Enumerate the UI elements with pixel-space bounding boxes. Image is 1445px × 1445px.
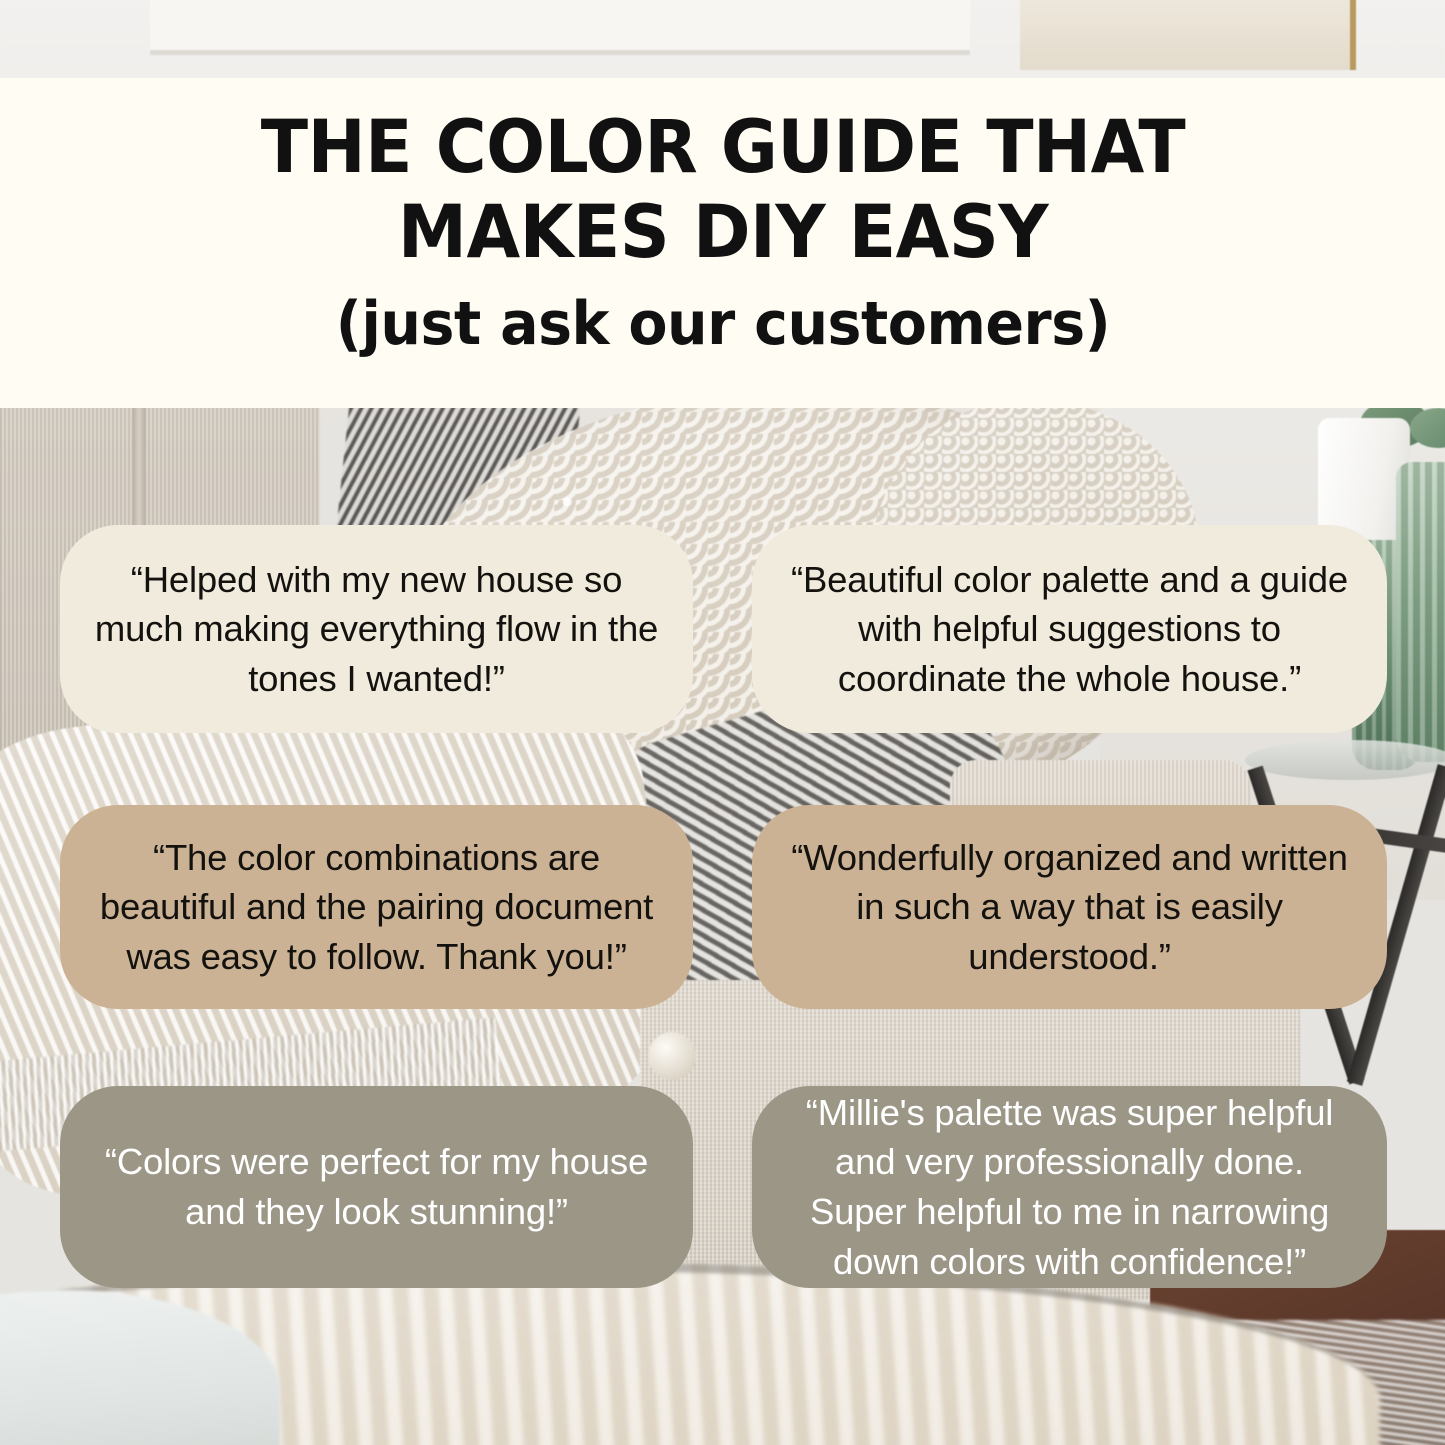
testimonial-card-3[interactable]: “The color combinations are beautiful an… <box>60 805 693 1009</box>
testimonial-card-6[interactable]: “Millie's palette was super helpful and … <box>752 1086 1387 1288</box>
testimonial-quote: “Colors were perfect for my house and th… <box>94 1137 659 1236</box>
wall-frame-edge <box>1020 0 1356 70</box>
testimonial-quote: “Wonderfully organized and written in su… <box>786 833 1353 982</box>
testimonial-poster: THE COLOR GUIDE THAT MAKES DIY EASY (jus… <box>0 0 1445 1445</box>
testimonial-quote: “Helped with my new house so much making… <box>94 555 659 704</box>
testimonial-card-4[interactable]: “Wonderfully organized and written in su… <box>752 805 1387 1009</box>
testimonial-card-1[interactable]: “Helped with my new house so much making… <box>60 525 693 733</box>
page-subtitle: (just ask our customers) <box>129 291 1317 357</box>
testimonial-quote: “The color combinations are beautiful an… <box>94 833 659 982</box>
testimonial-quote: “Millie's palette was super helpful and … <box>786 1088 1353 1287</box>
wall-art-panel <box>150 0 970 55</box>
header-band: THE COLOR GUIDE THAT MAKES DIY EASY (jus… <box>0 78 1445 408</box>
testimonial-card-5[interactable]: “Colors were perfect for my house and th… <box>60 1086 693 1288</box>
testimonial-grid: “Helped with my new house so much making… <box>0 408 1445 1445</box>
page-title: THE COLOR GUIDE THAT MAKES DIY EASY <box>129 106 1317 275</box>
testimonial-card-2[interactable]: “Beautiful color palette and a guide wit… <box>752 525 1387 733</box>
testimonial-quote: “Beautiful color palette and a guide wit… <box>786 555 1353 704</box>
